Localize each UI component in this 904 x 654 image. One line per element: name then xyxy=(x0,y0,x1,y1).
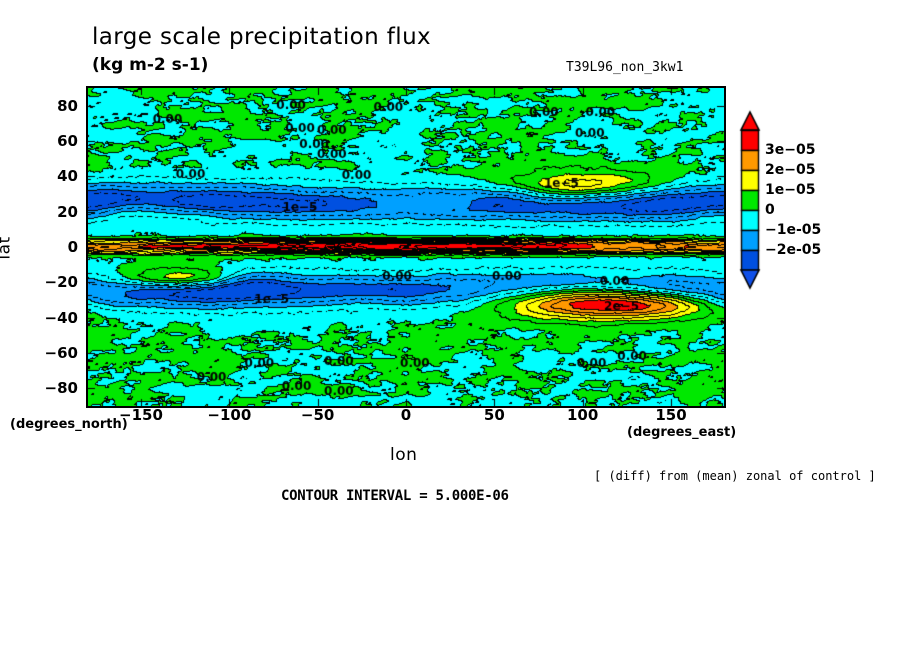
colorbar-swatches xyxy=(735,108,855,308)
precipitation-flux-field xyxy=(88,88,724,406)
y-tick-label: 20 xyxy=(57,203,78,221)
contour-interval-label: CONTOUR INTERVAL = 5.000E-06 xyxy=(281,488,509,504)
y-tick-label: −60 xyxy=(45,344,78,362)
x-tick-label: 100 xyxy=(567,406,598,424)
x-axis-title: lon xyxy=(390,445,417,465)
x-tick-label: −100 xyxy=(207,406,251,424)
y-tick-label: −80 xyxy=(45,379,78,397)
y-axis-title: lat xyxy=(0,236,15,259)
colorbar-tick-label: −2e-05 xyxy=(765,242,821,258)
colorbar-tick-label: −1e-05 xyxy=(765,222,821,238)
y-tick-label: 60 xyxy=(57,132,78,150)
colorbar-tick-label: 0 xyxy=(765,202,775,218)
page-title: large scale precipitation flux xyxy=(92,24,431,50)
colorbar-tick-label: 2e−05 xyxy=(765,162,815,178)
x-axis-units-label: (degrees_east) xyxy=(627,425,736,440)
units-label: (kg m-2 s-1) xyxy=(92,55,208,75)
y-tick-label: 80 xyxy=(57,97,78,115)
y-axis-tick-labels: 806040200−20−40−60−80 xyxy=(20,0,78,654)
x-tick-label: −50 xyxy=(301,406,334,424)
run-id-label: T39L96_non_3kw1 xyxy=(566,60,683,75)
colorbar-tick-label: 3e−05 xyxy=(765,142,815,158)
colorbar-tick-label: 1e−05 xyxy=(765,182,815,198)
x-tick-label: 50 xyxy=(484,406,505,424)
y-tick-label: −20 xyxy=(45,273,78,291)
diff-note-label: [ (diff) from (mean) zonal of control ] xyxy=(594,469,876,483)
x-tick-label: 150 xyxy=(655,406,686,424)
x-tick-label: 0 xyxy=(401,406,411,424)
contour-plot-panel xyxy=(86,86,726,408)
y-tick-label: 40 xyxy=(57,167,78,185)
colorbar: 3e−052e−051e−050−1e-05−2e-05 xyxy=(735,108,855,308)
y-tick-label: 0 xyxy=(68,238,78,256)
y-axis-units-label: (degrees_north) xyxy=(10,417,128,432)
y-tick-label: −40 xyxy=(45,309,78,327)
